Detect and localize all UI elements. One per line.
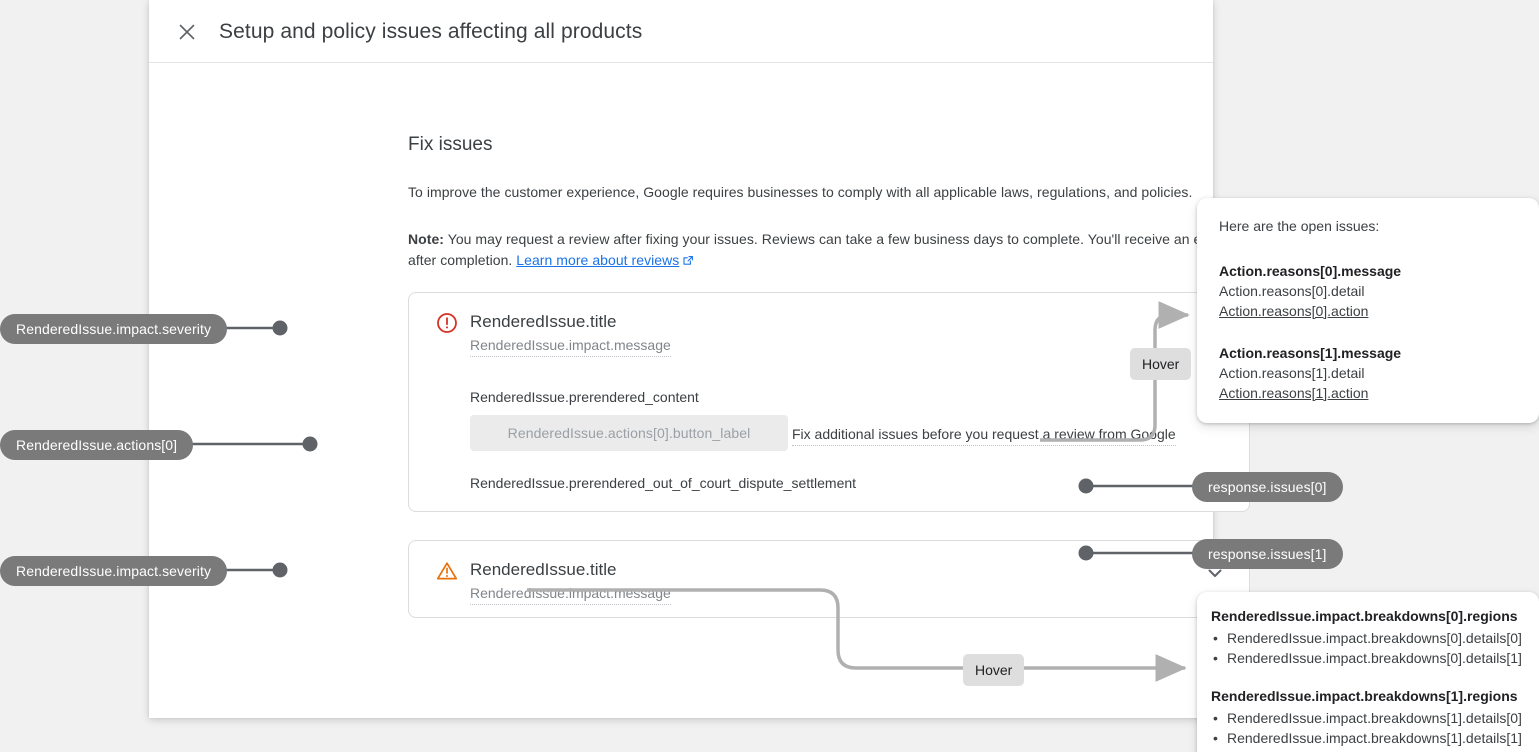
annotation-pill-response-issues-1: response.issues[1] (1192, 539, 1343, 569)
annotation-pill-response-issues-0: response.issues[0] (1192, 472, 1343, 502)
issue-card[interactable]: RenderedIssue.title RenderedIssue.impact… (408, 540, 1250, 618)
issue-action-button[interactable]: RenderedIssue.actions[0].button_label (470, 415, 788, 451)
issue-card[interactable]: RenderedIssue.title RenderedIssue.impact… (408, 292, 1250, 512)
issue-prerendered-content: RenderedIssue.prerendered_content (470, 387, 699, 407)
issue-prerendered-oocds: RenderedIssue.prerendered_out_of_court_d… (470, 473, 856, 493)
list-item: RenderedIssue.impact.breakdowns[1].detai… (1211, 728, 1521, 748)
list-item: RenderedIssue.impact.breakdowns[1].detai… (1211, 708, 1521, 728)
reason-action-link[interactable]: Action.reasons[1].action (1219, 383, 1517, 403)
error-circle-icon (436, 312, 458, 334)
note-paragraph: Note: You may request a review after fix… (408, 229, 1252, 273)
issues-dialog: Setup and policy issues affecting all pr… (149, 0, 1213, 718)
breakdown-regions: RenderedIssue.impact.breakdowns[0].regio… (1211, 606, 1521, 626)
breakdown-regions: RenderedIssue.impact.breakdowns[1].regio… (1211, 686, 1521, 706)
reasons-popover: Here are the open issues: Action.reasons… (1197, 198, 1539, 423)
reason-group: Action.reasons[1].message Action.reasons… (1219, 343, 1517, 403)
hover-chip-top: Hover (1130, 348, 1191, 380)
intro-paragraph: To improve the customer experience, Goog… (408, 182, 1252, 203)
note-label: Note: (408, 231, 444, 247)
issue-title: RenderedIssue.title (470, 558, 616, 582)
breakdowns-popover: RenderedIssue.impact.breakdowns[0].regio… (1197, 592, 1539, 752)
issue-impact-message[interactable]: RenderedIssue.impact.message (470, 335, 671, 357)
warning-triangle-icon (436, 560, 458, 582)
reason-detail: Action.reasons[0].detail (1219, 281, 1517, 301)
reason-message: Action.reasons[1].message (1219, 343, 1517, 363)
dialog-title: Setup and policy issues affecting all pr… (219, 18, 642, 46)
page-title: Fix issues (408, 132, 1252, 158)
hover-chip-bottom: Hover (963, 654, 1024, 686)
breakdown-group: RenderedIssue.impact.breakdowns[0].regio… (1211, 606, 1521, 668)
screenshot-root: Setup and policy issues affecting all pr… (0, 0, 1539, 752)
reason-group: Action.reasons[0].message Action.reasons… (1219, 261, 1517, 321)
reason-action-link[interactable]: Action.reasons[0].action (1219, 301, 1517, 321)
list-item: RenderedIssue.impact.breakdowns[0].detai… (1211, 648, 1521, 668)
breakdown-detail-list: RenderedIssue.impact.breakdowns[1].detai… (1211, 708, 1521, 748)
annotation-pill-actions-0: RenderedIssue.actions[0] (0, 430, 193, 460)
dialog-header: Setup and policy issues affecting all pr… (149, 0, 1213, 63)
external-link-icon (682, 252, 694, 273)
issue-impact-message[interactable]: RenderedIssue.impact.message (470, 583, 671, 605)
fix-additional-issues-text[interactable]: Fix additional issues before you request… (792, 424, 1176, 446)
issue-title: RenderedIssue.title (470, 310, 616, 334)
list-item: RenderedIssue.impact.breakdowns[0].detai… (1211, 628, 1521, 648)
dialog-body: Fix issues To improve the customer exper… (408, 132, 1252, 299)
reasons-lead-text: Here are the open issues: (1219, 216, 1517, 236)
breakdown-detail-list: RenderedIssue.impact.breakdowns[0].detai… (1211, 628, 1521, 668)
reason-detail: Action.reasons[1].detail (1219, 363, 1517, 383)
close-icon[interactable] (173, 18, 201, 46)
breakdown-group: RenderedIssue.impact.breakdowns[1].regio… (1211, 686, 1521, 748)
annotation-pill-severity-1: RenderedIssue.impact.severity (0, 556, 227, 586)
annotation-pill-severity-0: RenderedIssue.impact.severity (0, 314, 227, 344)
learn-more-link[interactable]: Learn more about reviews (516, 252, 679, 268)
reason-message: Action.reasons[0].message (1219, 261, 1517, 281)
